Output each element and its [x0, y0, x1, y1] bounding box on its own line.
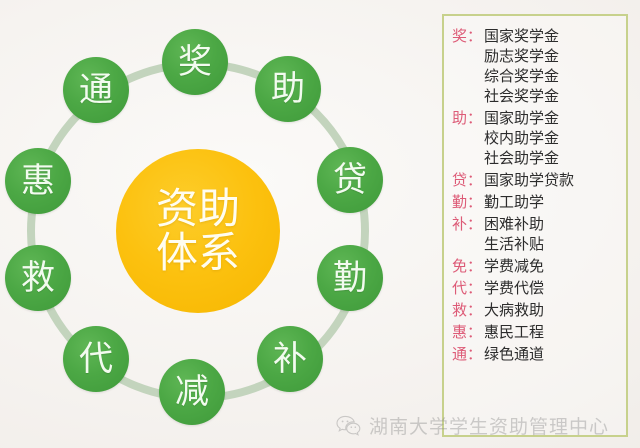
legend-key-colon: ： — [467, 193, 482, 211]
legend-values: 惠民工程 — [484, 322, 620, 342]
legend-value: 大病救助 — [484, 300, 620, 320]
node-hui[interactable]: 惠 — [5, 148, 71, 214]
legend-value: 国家助学贷款 — [484, 170, 620, 190]
node-dai-compensate[interactable]: 代 — [63, 326, 129, 392]
legend-row: 免：学费减免 — [452, 256, 620, 276]
center-label-line1: 资助 — [156, 187, 240, 231]
legend-key-colon: ： — [467, 345, 482, 363]
legend-value: 生活补贴 — [484, 234, 620, 254]
legend-key-colon: ： — [467, 257, 482, 275]
legend-values: 国家奖学金励志奖学金综合奖学金社会奖学金 — [484, 26, 620, 106]
node-dai-loan[interactable]: 贷 — [317, 147, 383, 213]
legend-key: 补： — [452, 214, 484, 234]
center-node-funding-system: 资助 体系 — [116, 149, 280, 313]
node-jian[interactable]: 减 — [159, 359, 225, 425]
legend-key: 救： — [452, 300, 484, 320]
legend-values: 学费代偿 — [484, 278, 620, 298]
slide-canvas: 资助 体系 奖 助 贷 勤 补 减 代 救 惠 通 奖：国家奖学金励志奖学金综合… — [0, 0, 640, 448]
legend-key-colon: ： — [467, 109, 482, 127]
legend-row: 奖：国家奖学金励志奖学金综合奖学金社会奖学金 — [452, 26, 620, 106]
legend-row: 助：国家助学金校内助学金社会助学金 — [452, 108, 620, 168]
legend-row: 贷：国家助学贷款 — [452, 170, 620, 190]
legend-key: 贷： — [452, 170, 484, 190]
node-bu[interactable]: 补 — [257, 326, 323, 392]
legend-value: 勤工助学 — [484, 192, 620, 212]
legend-value: 国家奖学金 — [484, 26, 620, 46]
legend-value: 困难补助 — [484, 214, 620, 234]
funding-system-diagram: 资助 体系 奖 助 贷 勤 补 减 代 救 惠 通 — [0, 0, 430, 448]
legend-values: 勤工助学 — [484, 192, 620, 212]
legend-row: 代：学费代偿 — [452, 278, 620, 298]
legend-value: 社会奖学金 — [484, 86, 620, 106]
legend-key: 惠： — [452, 322, 484, 342]
legend-value: 绿色通道 — [484, 344, 620, 364]
legend-key: 助： — [452, 108, 484, 128]
legend-values: 国家助学贷款 — [484, 170, 620, 190]
legend-key-colon: ： — [467, 279, 482, 297]
legend-key-colon: ： — [467, 27, 482, 45]
node-jiang[interactable]: 奖 — [162, 29, 228, 95]
legend-value: 国家助学金 — [484, 108, 620, 128]
legend-key-colon: ： — [467, 215, 482, 233]
legend-value: 社会助学金 — [484, 148, 620, 168]
legend-row: 惠：惠民工程 — [452, 322, 620, 342]
legend-row: 勤：勤工助学 — [452, 192, 620, 212]
node-qin[interactable]: 勤 — [317, 245, 383, 311]
legend-value: 校内助学金 — [484, 128, 620, 148]
legend-value: 学费减免 — [484, 256, 620, 276]
node-zhu[interactable]: 助 — [255, 56, 321, 122]
legend-panel: 奖：国家奖学金励志奖学金综合奖学金社会奖学金助：国家助学金校内助学金社会助学金贷… — [442, 14, 628, 437]
legend-value: 学费代偿 — [484, 278, 620, 298]
legend-value: 励志奖学金 — [484, 46, 620, 66]
legend-key-colon: ： — [467, 323, 482, 341]
legend-key: 勤： — [452, 192, 484, 212]
legend-values: 国家助学金校内助学金社会助学金 — [484, 108, 620, 168]
legend-row: 通：绿色通道 — [452, 344, 620, 364]
legend-value: 惠民工程 — [484, 322, 620, 342]
legend-key: 通： — [452, 344, 484, 364]
legend-value: 综合奖学金 — [484, 66, 620, 86]
node-jiu[interactable]: 救 — [5, 245, 71, 311]
legend-row: 补：困难补助生活补贴 — [452, 214, 620, 254]
legend-key: 奖： — [452, 26, 484, 46]
legend-row: 救：大病救助 — [452, 300, 620, 320]
legend-values: 困难补助生活补贴 — [484, 214, 620, 254]
center-label-line2: 体系 — [156, 231, 240, 275]
legend-values: 大病救助 — [484, 300, 620, 320]
legend-key: 代： — [452, 278, 484, 298]
legend-values: 学费减免 — [484, 256, 620, 276]
legend-key-colon: ： — [467, 171, 482, 189]
legend-key: 免： — [452, 256, 484, 276]
legend-values: 绿色通道 — [484, 344, 620, 364]
node-tong[interactable]: 通 — [63, 57, 129, 123]
legend-key-colon: ： — [467, 301, 482, 319]
